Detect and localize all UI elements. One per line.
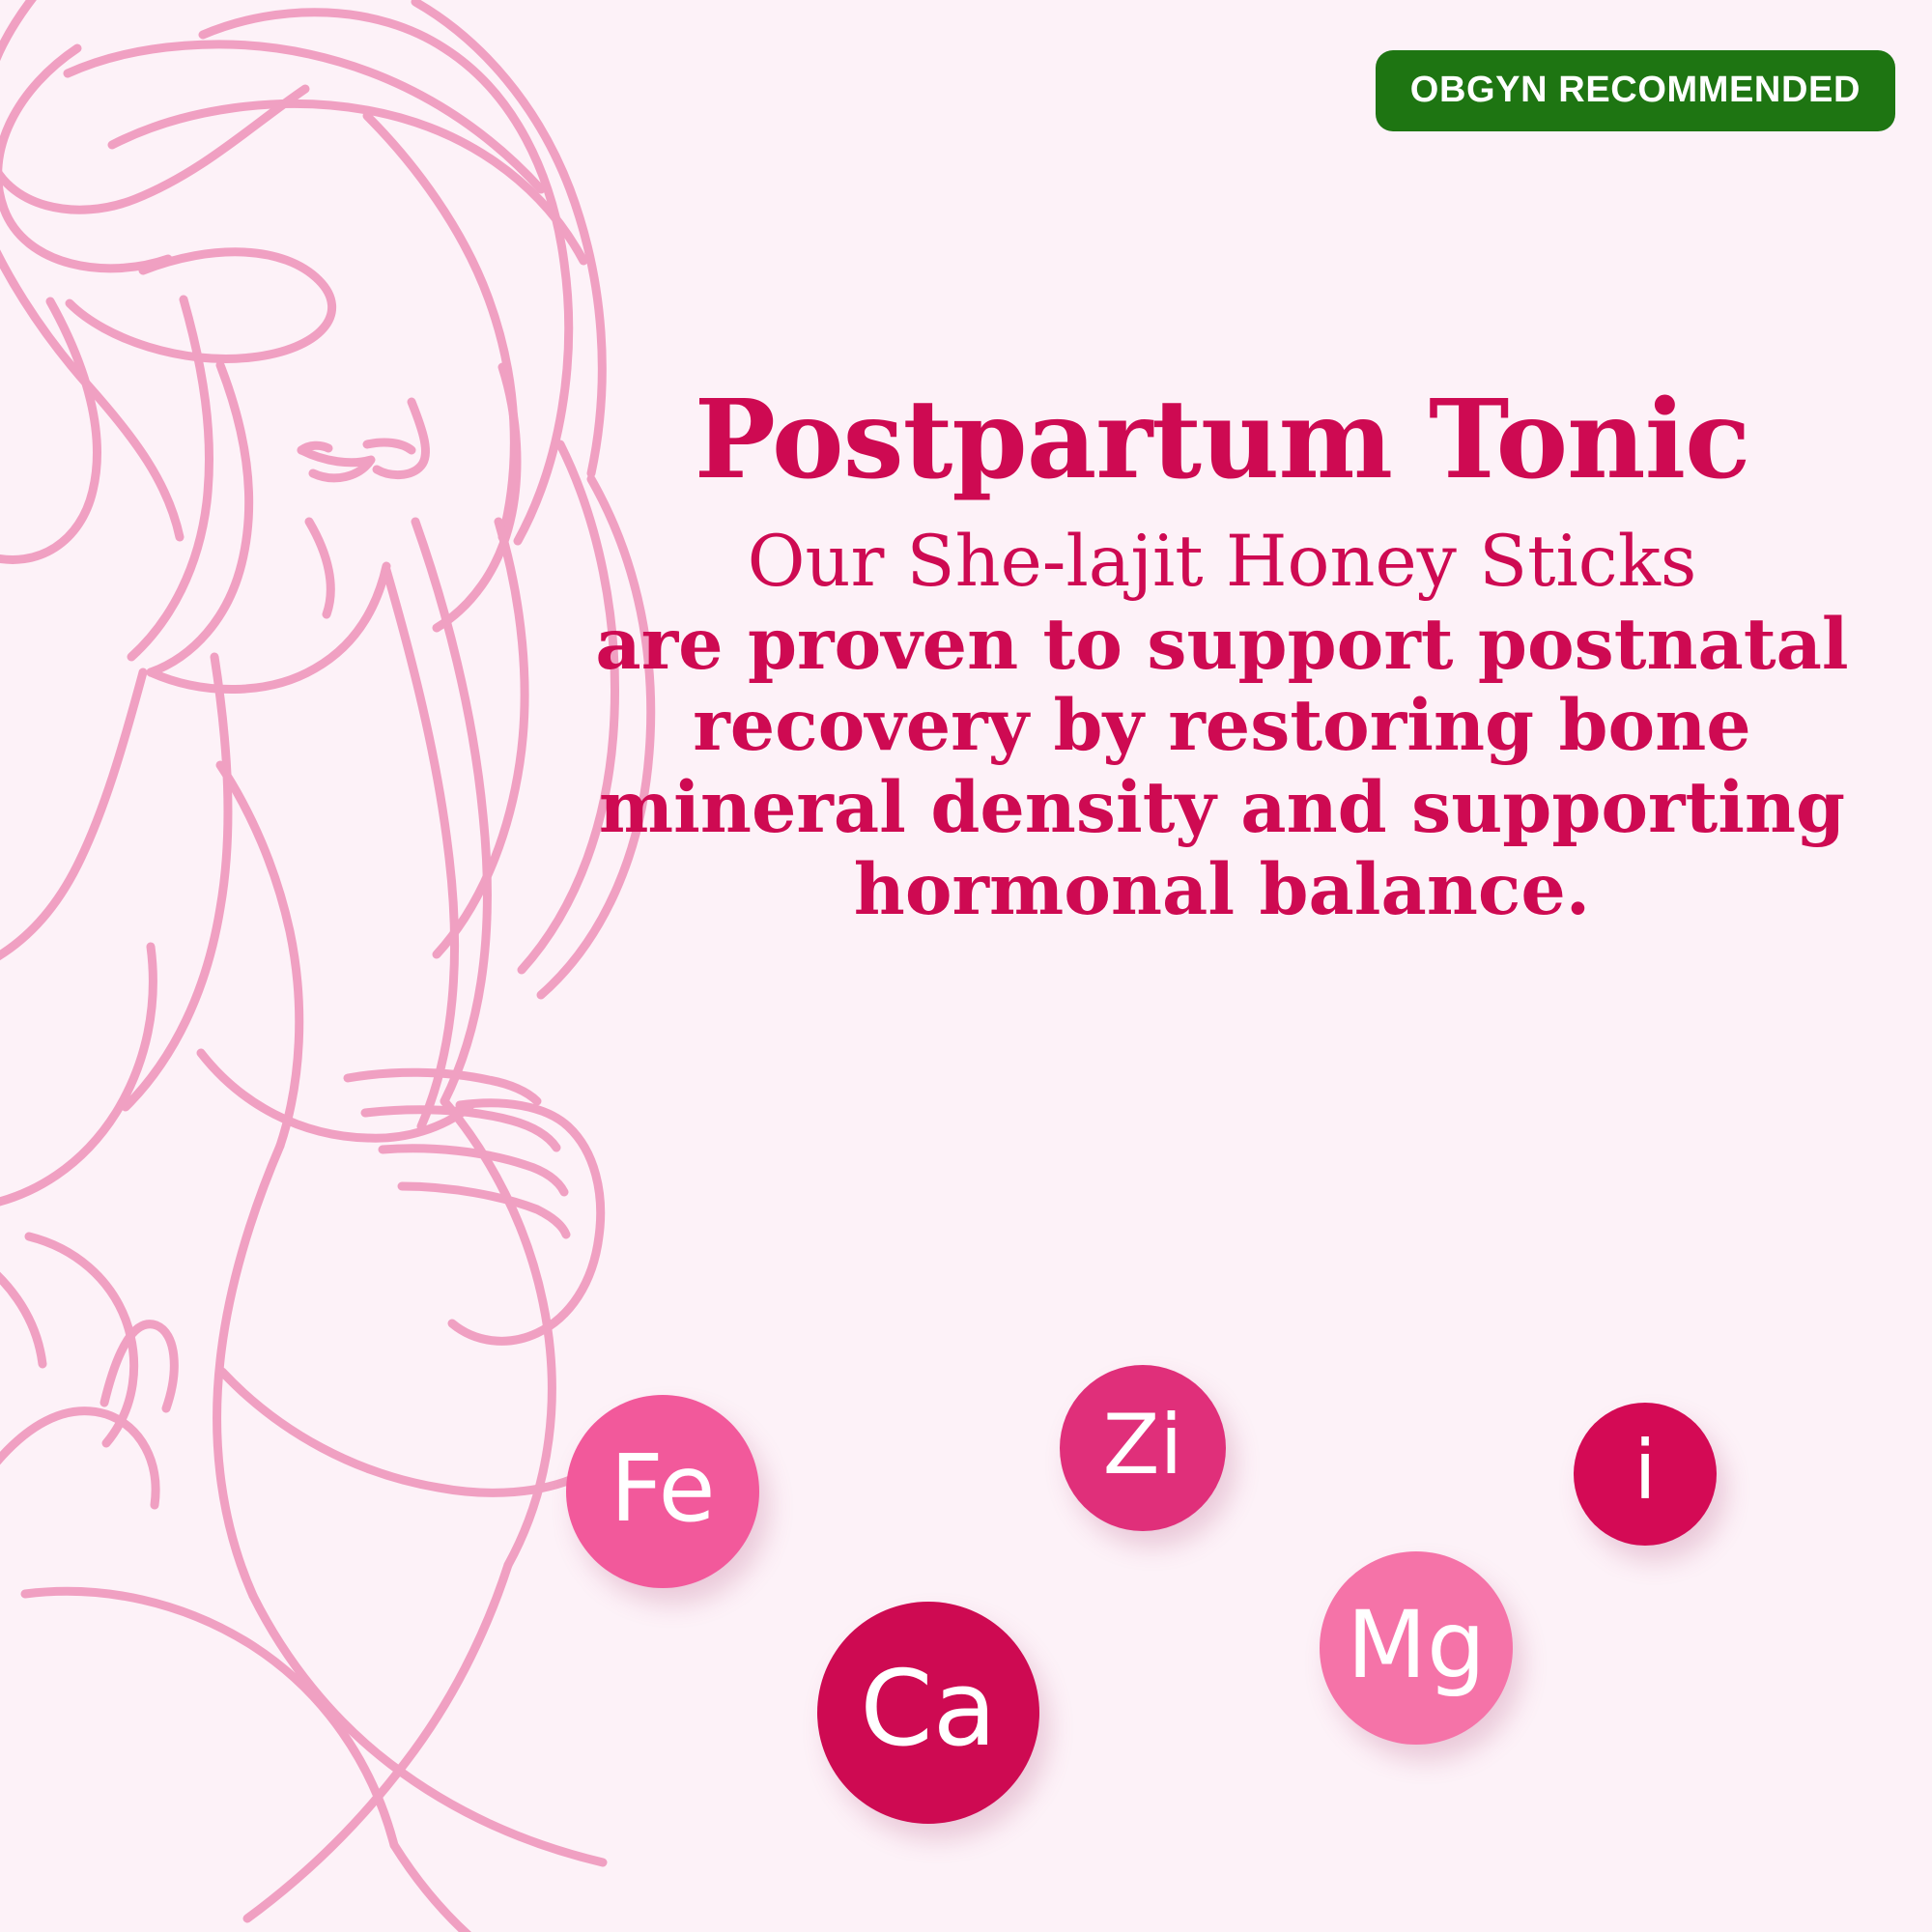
mineral-bubble-i: i	[1574, 1403, 1717, 1546]
mineral-bubble-fe-label: Fe	[610, 1442, 715, 1535]
mineral-bubble-i-label: i	[1634, 1430, 1656, 1511]
mineral-bubble-zi-label: Zi	[1103, 1404, 1183, 1487]
obgyn-recommended-badge: OBGYN RECOMMENDED	[1376, 50, 1895, 131]
mineral-bubble-mg: Mg	[1320, 1551, 1513, 1745]
body-copy-line-5: hormonal balance.	[580, 849, 1864, 931]
page-title: Postpartum Tonic	[580, 386, 1864, 495]
copy-block: Postpartum Tonic Our She-lajit Honey Sti…	[580, 386, 1864, 930]
pregnant-woman-line-art-icon	[0, 0, 696, 1932]
promo-card: OBGYN RECOMMENDED Postpartum Tonic Our S…	[0, 0, 1932, 1932]
body-copy-line-3: recovery by restoring bone	[580, 685, 1864, 767]
body-copy: Our She-lajit Honey Sticks are proven to…	[580, 522, 1864, 930]
body-copy-line-4: mineral density and supporting	[580, 767, 1864, 849]
mineral-bubble-ca-label: Ca	[860, 1658, 997, 1762]
body-copy-line-2: are proven to support postnatal	[580, 604, 1864, 686]
mineral-bubble-ca: Ca	[817, 1602, 1039, 1824]
obgyn-recommended-badge-label: OBGYN RECOMMENDED	[1410, 71, 1861, 108]
body-copy-line-1: Our She-lajit Honey Sticks	[580, 522, 1864, 604]
mineral-bubble-fe: Fe	[566, 1395, 759, 1588]
mineral-bubble-mg-label: Mg	[1347, 1599, 1486, 1691]
mineral-bubble-zi: Zi	[1060, 1365, 1226, 1531]
